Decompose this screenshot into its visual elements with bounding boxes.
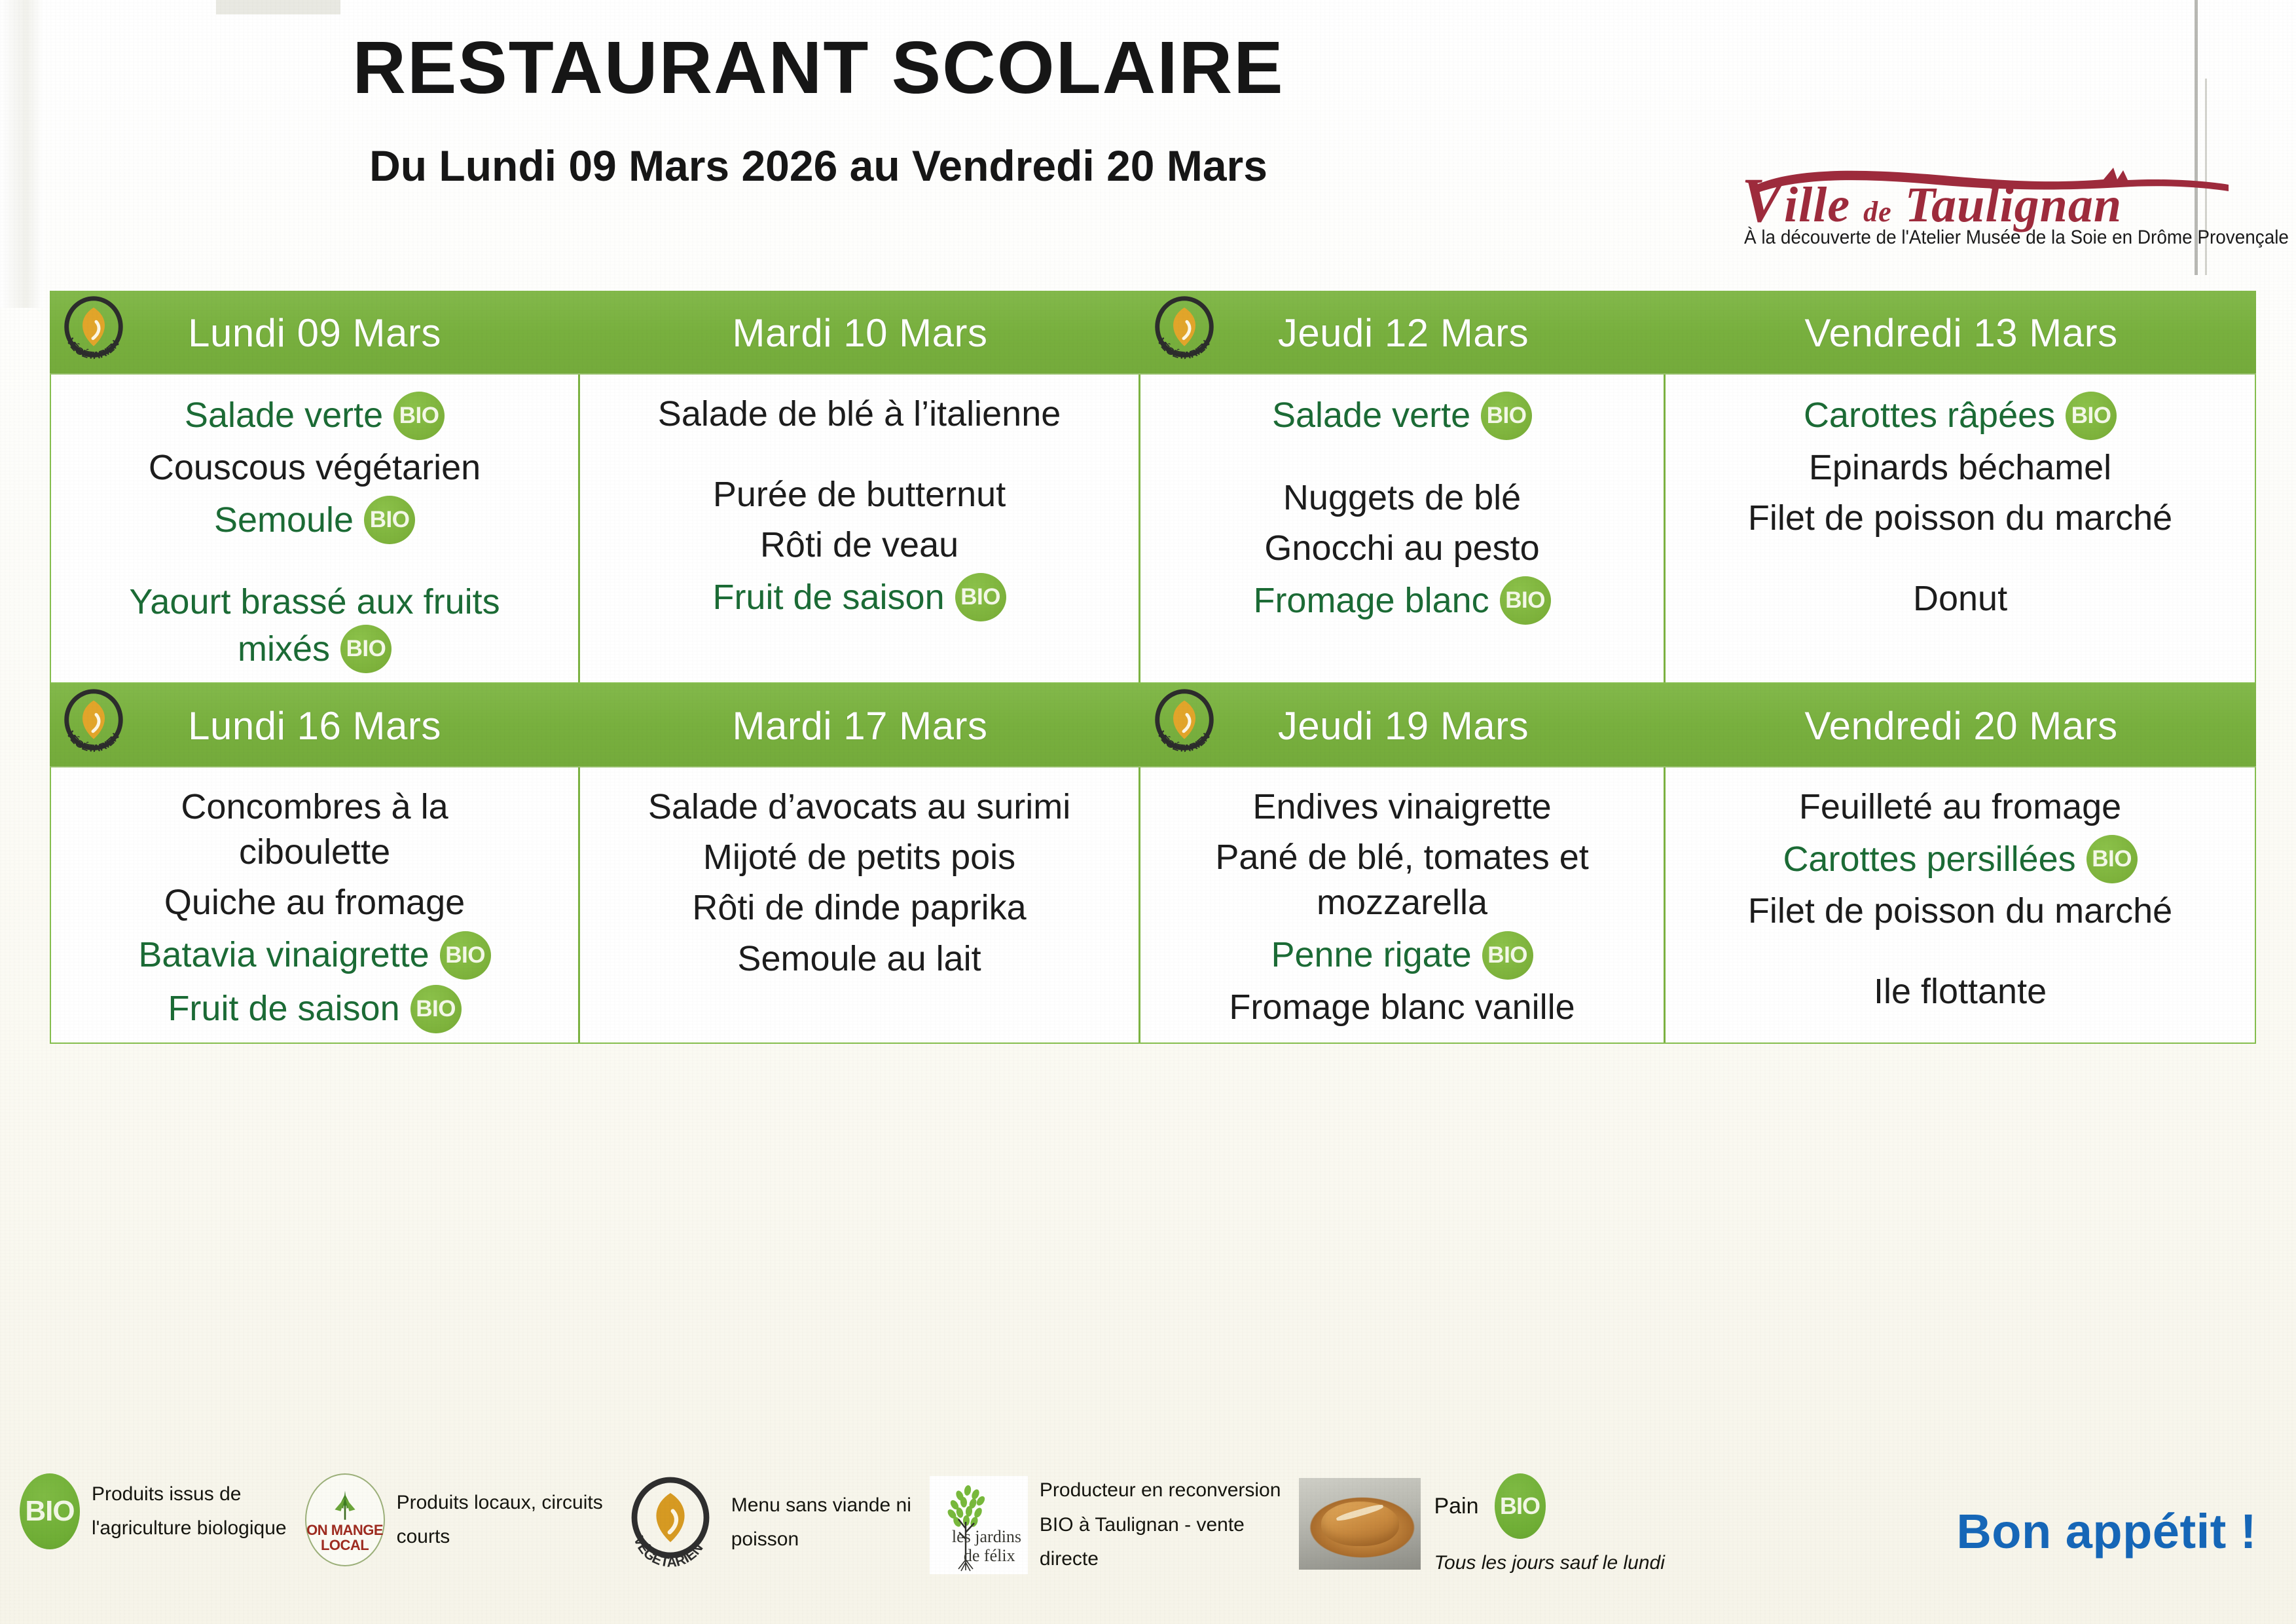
menu-dish-label: Semoule au lait	[737, 939, 981, 978]
menu-dish-label: Purée de butternut	[713, 475, 1006, 514]
menu-dish-label: Batavia vinaigrette	[138, 932, 429, 978]
menu-dish-label: Yaourt brassé aux fruits	[129, 582, 500, 621]
menu-dish-label: Concombres à la ciboulette	[181, 787, 448, 872]
menu-dish-label: Couscous végétarien	[149, 448, 481, 487]
legend-item-vegetarian: VÉGÉTARIEN Menu sans viande ni poisson	[621, 1473, 911, 1572]
day-menu-cell: Carottes râpéesBIOEpinards béchamelFilet…	[1666, 375, 2255, 682]
bread-bio-badge-icon: BIO	[1495, 1473, 1546, 1539]
jardins-de-felix-icon: les jardins de félix	[930, 1476, 1028, 1574]
bio-badge-icon: BIO	[1500, 576, 1551, 625]
menu-dish: Nuggets de blé	[1148, 473, 1656, 523]
vegetarien-badge: VÉGÉTARIEN	[55, 293, 132, 371]
day-header-label: Mardi 10 Mars	[733, 310, 988, 356]
bio-badge-icon: BIO	[1482, 931, 1533, 980]
menu-dish-label: Salade d’avocats au surimi	[648, 787, 1070, 826]
menu-dish: Quiche au fromage	[59, 877, 570, 928]
day-menu-cell: Salade verteBIONuggets de bléGnocchi au …	[1140, 375, 1666, 682]
menu-dish-label: Filet de poisson du marché	[1748, 498, 2172, 538]
menu-dish: Gnocchi au pesto	[1148, 523, 1656, 574]
menu-dish-label: Epinards béchamel	[1809, 448, 2111, 487]
page-title: RESTAURANT SCOLAIRE	[0, 25, 1637, 110]
bio-badge-icon: BIO	[410, 985, 462, 1033]
menu-dish-label: Nuggets de blé	[1283, 478, 1521, 517]
legend: BIO Produits issus de l'agriculture biol…	[20, 1473, 1665, 1577]
bread-legend-text: Pain BIO Tous les jours sauf le lundi	[1434, 1473, 1664, 1574]
jardins-line1: les jardins	[952, 1527, 1021, 1546]
menu-dish-label: Salade verte	[185, 393, 383, 438]
menu-dish: Donut	[1673, 574, 2247, 624]
bread-note: Tous les jours sauf le lundi	[1434, 1552, 1664, 1574]
menu-dish: Yaourt brassé aux fruitsmixésBIO	[59, 577, 570, 676]
week-body-row: Concombres à la cibouletteQuiche au from…	[50, 767, 2256, 1043]
menu-dish-label-cont: mixésBIO	[238, 625, 392, 673]
day-menu-cell: Concombres à la cibouletteQuiche au from…	[51, 767, 580, 1042]
menu-dish-label: Salade verte	[1272, 393, 1470, 438]
menu-dish: Purée de butternut	[588, 470, 1131, 520]
jardins-de-felix-wordmark: les jardins de félix	[952, 1527, 1021, 1565]
legend-item-bio-label: Produits issus de l'agriculture biologiq…	[92, 1477, 287, 1546]
day-header-label: Jeudi 19 Mars	[1278, 703, 1529, 748]
menu-dish: Carottes râpéesBIO	[1673, 389, 2247, 443]
menu-dish: Mijoté de petits pois	[588, 832, 1131, 883]
bon-appetit-text: Bon appétit !	[1956, 1504, 2257, 1559]
day-menu-cell: Salade verteBIOCouscous végétarienSemoul…	[51, 375, 580, 682]
vegetarien-badge: VÉGÉTARIEN	[1146, 686, 1223, 764]
bio-badge-icon: BIO	[2086, 835, 2138, 883]
menu-poster: RESTAURANT SCOLAIRE Du Lundi 09 Mars 202…	[0, 0, 2296, 1624]
day-header-1[interactable]: VÉGÉTARIEN Lundi 16 Mars	[50, 684, 579, 767]
menu-dish: Filet de poisson du marché	[1673, 886, 2247, 936]
menu-dish-label: Penne rigate	[1271, 932, 1471, 978]
menu-dish: Pané de blé, tomates et mozzarella	[1148, 832, 1656, 928]
menu-dish: Couscous végétarien	[59, 443, 570, 493]
jardins-line2: de félix	[964, 1546, 1021, 1565]
menu-table: VÉGÉTARIEN Lundi 09 MarsMardi 10 Mars VÉ…	[50, 291, 2256, 1358]
on-mange-local-line2: LOCAL	[321, 1538, 369, 1553]
menu-dish: Feuilleté au fromage	[1673, 782, 2247, 832]
week-block: VÉGÉTARIEN Lundi 16 MarsMardi 17 Mars VÉ…	[50, 684, 2256, 1043]
bio-badge-icon: BIO	[955, 573, 1006, 621]
day-menu-cell: Salade de blé à l’italiennePurée de butt…	[580, 375, 1140, 682]
menu-dish-label: Gnocchi au pesto	[1264, 528, 1539, 568]
menu-dish-label: Quiche au fromage	[164, 883, 465, 922]
bio-badge-icon: BIO	[2066, 392, 2117, 440]
legend-item-producer: les jardins de félix Producteur en recon…	[930, 1473, 1281, 1577]
legend-item-vegetarian-label: Menu sans viande ni poisson	[731, 1488, 911, 1557]
week-body-row: Salade verteBIOCouscous végétarienSemoul…	[50, 375, 2256, 684]
menu-dish: Fromage blancBIO	[1148, 574, 1656, 627]
day-header-4[interactable]: Vendredi 20 Mars	[1666, 684, 2256, 767]
ville-de-taulignan-logo: Ville de Taulignan À la découverte de l'…	[1741, 169, 2239, 267]
logo-text-ille: ille	[1784, 177, 1850, 232]
vegetarien-icon: VÉGÉTARIEN	[1146, 686, 1223, 764]
menu-dish-label: Salade de blé à l’italienne	[658, 394, 1061, 434]
menu-dish: Fruit de saisonBIO	[59, 982, 570, 1036]
vegetarien-icon: VÉGÉTARIEN	[55, 686, 132, 764]
menu-dish-label: Rôti de dinde paprika	[692, 888, 1026, 927]
vegetarien-badge: VÉGÉTARIEN	[55, 686, 132, 764]
day-header-label: Jeudi 12 Mars	[1278, 310, 1529, 356]
bread-label: Pain	[1434, 1494, 1478, 1519]
bio-badge-icon: BIO	[364, 496, 415, 544]
menu-dish: Ile flottante	[1673, 967, 2247, 1017]
on-mange-local-icon: ON MANGE LOCAL	[305, 1473, 385, 1566]
menu-dish: Epinards béchamel	[1673, 443, 2247, 493]
legend-item-local: ON MANGE LOCAL Produits locaux, circuits…	[305, 1473, 603, 1566]
logo-letter-v: V	[1741, 165, 1784, 235]
week-header-row: VÉGÉTARIEN Lundi 09 MarsMardi 10 Mars VÉ…	[50, 291, 2256, 375]
menu-dish-label: Endives vinaigrette	[1252, 787, 1551, 826]
day-menu-cell: Endives vinaigrettePané de blé, tomates …	[1140, 767, 1666, 1042]
menu-dish: Fruit de saisonBIO	[588, 570, 1131, 624]
bio-badge-icon: BIO	[440, 931, 491, 980]
poster-header: RESTAURANT SCOLAIRE Du Lundi 09 Mars 202…	[0, 0, 2296, 288]
day-header-label: Mardi 17 Mars	[733, 703, 988, 748]
menu-dish: Concombres à la ciboulette	[59, 782, 570, 877]
logo-word-ville: Ville	[1741, 177, 1850, 232]
day-menu-cell: Feuilleté au fromageCarottes persilléesB…	[1666, 767, 2255, 1042]
menu-dish-label: Fruit de saison	[168, 986, 399, 1031]
date-range-subtitle: Du Lundi 09 Mars 2026 au Vendredi 20 Mar…	[0, 141, 1637, 191]
day-header-2[interactable]: Mardi 17 Mars	[579, 684, 1140, 767]
menu-dish-label: Pané de blé, tomates et mozzarella	[1215, 838, 1588, 922]
menu-dish-label: Ile flottante	[1874, 972, 2047, 1011]
menu-dish: Endives vinaigrette	[1148, 782, 1656, 832]
menu-dish-label: Carottes persillées	[1783, 837, 2075, 882]
menu-dish-label: Feuilleté au fromage	[1799, 787, 2121, 826]
menu-dish: Rôti de veau	[588, 520, 1131, 570]
menu-dish: Salade de blé à l’italienne	[588, 389, 1131, 439]
menu-dish-label: Carottes râpées	[1804, 393, 2055, 438]
menu-dish: Salade verteBIO	[59, 389, 570, 443]
menu-dish: Semoule au lait	[588, 934, 1131, 984]
menu-dish-label: Semoule	[214, 498, 354, 543]
vegetarien-icon: VÉGÉTARIEN	[1146, 293, 1223, 371]
vegetarien-badge: VÉGÉTARIEN	[1146, 293, 1223, 371]
leaf-icon	[328, 1489, 362, 1523]
menu-dish: Fromage blanc vanille	[1148, 982, 1656, 1033]
menu-dish-label: Fromage blanc	[1253, 578, 1489, 623]
menu-dish: Batavia vinaigretteBIO	[59, 929, 570, 982]
menu-dish: Filet de poisson du marché	[1673, 493, 2247, 544]
menu-dish: Rôti de dinde paprika	[588, 883, 1131, 933]
legend-item-bio: BIO Produits issus de l'agriculture biol…	[20, 1473, 287, 1549]
day-header-label: Lundi 16 Mars	[188, 703, 441, 748]
day-header-4[interactable]: Vendredi 13 Mars	[1666, 291, 2256, 375]
menu-dish-label: Rôti de veau	[760, 525, 958, 564]
bread-label-row: Pain BIO	[1434, 1473, 1664, 1539]
menu-dish: SemouleBIO	[59, 493, 570, 547]
day-header-3[interactable]: VÉGÉTARIEN Jeudi 19 Mars	[1140, 684, 1666, 767]
bio-badge-icon: BIO	[20, 1473, 80, 1549]
menu-dish: Penne rigateBIO	[1148, 929, 1656, 982]
menu-dish-label: Donut	[1913, 579, 2007, 618]
menu-dish: Salade verteBIO	[1148, 389, 1656, 443]
day-header-label: Lundi 09 Mars	[188, 310, 441, 356]
day-header-label: Vendredi 13 Mars	[1804, 310, 2117, 356]
menu-dish: Salade d’avocats au surimi	[588, 782, 1131, 832]
menu-dish-label: Fruit de saison	[712, 575, 944, 620]
vegetarien-icon: VÉGÉTARIEN	[55, 293, 132, 371]
day-header-3[interactable]: VÉGÉTARIEN Jeudi 12 Mars	[1140, 291, 1666, 375]
menu-dish: Carottes persilléesBIO	[1673, 832, 2247, 886]
day-header-1[interactable]: VÉGÉTARIEN Lundi 09 Mars	[50, 291, 579, 375]
menu-dish-label: Fromage blanc vanille	[1229, 987, 1575, 1027]
menu-dish-label: Filet de poisson du marché	[1748, 891, 2172, 931]
bread-photo	[1299, 1478, 1421, 1570]
poster-footer: BIO Produits issus de l'agriculture biol…	[0, 1467, 2296, 1624]
legend-item-bread: Pain BIO Tous les jours sauf le lundi	[1299, 1473, 1664, 1574]
logo-text-de: de	[1863, 196, 1892, 228]
logo-wordmark: Ville de Taulignan	[1741, 164, 2122, 236]
day-header-2[interactable]: Mardi 10 Mars	[579, 291, 1140, 375]
menu-dish-label: Mijoté de petits pois	[703, 838, 1015, 877]
vegetarien-icon: VÉGÉTARIEN	[621, 1473, 720, 1572]
legend-item-producer-label: Producteur en reconversion BIO à Taulign…	[1040, 1473, 1281, 1577]
bio-badge-icon: BIO	[340, 625, 392, 673]
bio-badge-icon: BIO	[393, 392, 445, 440]
logo-text-taulignan: Taulignan	[1905, 177, 2122, 232]
on-mange-local-line1: ON MANGE	[306, 1523, 383, 1538]
bio-badge-icon: BIO	[1481, 392, 1532, 440]
day-menu-cell: Salade d’avocats au surimiMijoté de peti…	[580, 767, 1140, 1042]
week-block: VÉGÉTARIEN Lundi 09 MarsMardi 10 Mars VÉ…	[50, 291, 2256, 684]
day-header-label: Vendredi 20 Mars	[1804, 703, 2117, 748]
legend-item-local-label: Produits locaux, circuits courts	[397, 1486, 603, 1555]
week-header-row: VÉGÉTARIEN Lundi 16 MarsMardi 17 Mars VÉ…	[50, 684, 2256, 767]
logo-tagline: À la découverte de l'Atelier Musée de la…	[1744, 227, 2289, 249]
